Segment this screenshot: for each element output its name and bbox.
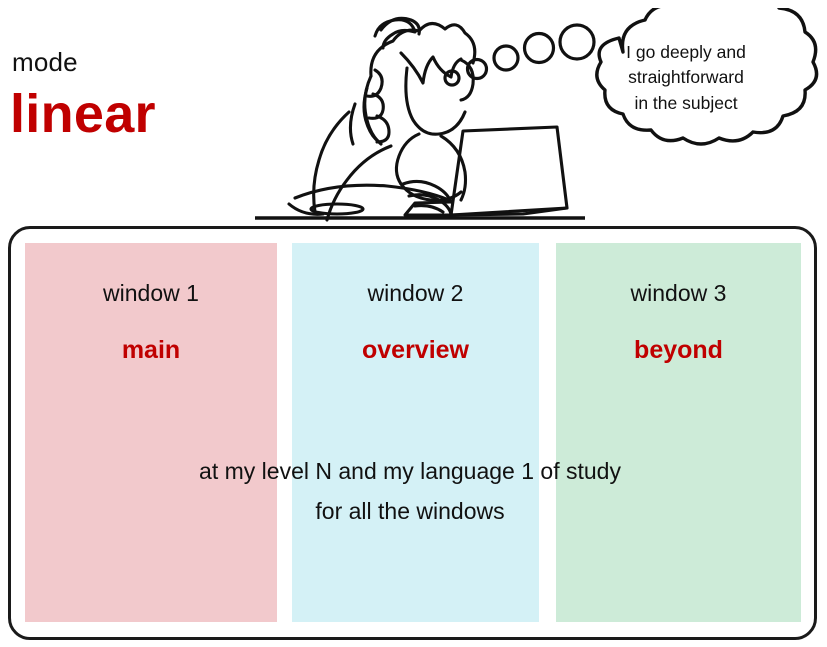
window-panel-2-keyword: overview xyxy=(292,336,539,365)
window-panel-1-title: window 1 xyxy=(25,280,277,307)
thought-bubble-line-3: in the subject xyxy=(634,93,737,113)
window-panel-1[interactable]: window 1 main xyxy=(25,243,277,622)
window-panel-3[interactable]: window 3 beyond xyxy=(556,243,801,622)
thought-bubble-line-1: I go deeply and xyxy=(626,42,746,62)
thought-bubble-text: I go deeply and straightforward in the s… xyxy=(598,40,774,116)
window-panel-3-title: window 3 xyxy=(556,280,801,307)
thought-bubble-line-2: straightforward xyxy=(628,67,744,87)
mode-label: mode xyxy=(12,47,78,78)
mode-value: linear xyxy=(10,87,156,141)
window-panel-2[interactable]: window 2 overview xyxy=(292,243,539,622)
diagram-canvas: mode linear xyxy=(0,0,827,647)
window-panel-2-title: window 2 xyxy=(292,280,539,307)
window-panel-1-keyword: main xyxy=(25,336,277,365)
window-panel-3-keyword: beyond xyxy=(556,336,801,365)
